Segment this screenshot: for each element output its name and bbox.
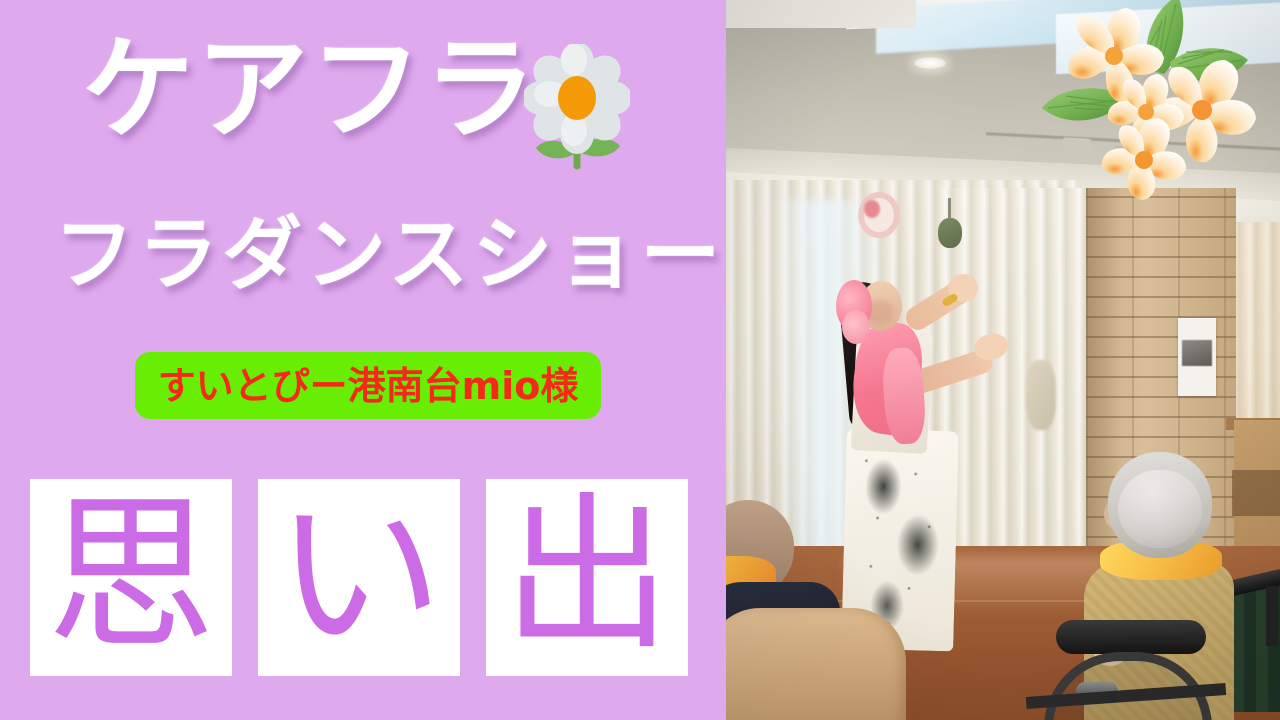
thumbnail-canvas: ケアフラ フラダンスショー <box>0 0 1280 720</box>
kanji-box-omoi-3: 出 <box>486 479 688 676</box>
resident-woman-hair <box>1118 470 1202 548</box>
plumeria-flower-cluster-icon <box>1020 0 1280 200</box>
hanging-ornament <box>938 218 962 248</box>
kanji-char: 出 <box>503 491 671 659</box>
cabinet-shadow <box>1232 470 1280 516</box>
venue-badge: すいとぴー港南台mio様 <box>135 352 601 419</box>
wheelchair-post <box>1266 586 1278 646</box>
daisy-flower-icon <box>524 44 630 170</box>
ceiling-soffit <box>726 0 916 28</box>
wall-wreath-decoration <box>858 192 900 238</box>
window-curtain-mid <box>940 188 1088 608</box>
kanji-char: い <box>275 491 443 659</box>
wheelchair-armrest <box>1056 620 1206 654</box>
ceiling-downlight <box>914 57 946 69</box>
kanji-char: 思 <box>47 491 215 659</box>
audience-chair <box>726 608 906 720</box>
title-line-1: ケアフラ <box>82 34 538 146</box>
curtain-tieback <box>1026 360 1056 430</box>
dancer-hair-flower-2 <box>842 310 870 344</box>
kanji-box-omoi-2: い <box>258 479 460 676</box>
title-line-2: フラダンスショー <box>54 214 724 294</box>
kanji-box-omoi-1: 思 <box>30 479 232 676</box>
left-title-panel: ケアフラ フラダンスショー <box>0 0 726 720</box>
wreath-center <box>864 200 880 218</box>
wall-poster-photo <box>1182 340 1212 366</box>
venue-badge-label: すいとぴー港南台mio様 <box>158 367 579 405</box>
